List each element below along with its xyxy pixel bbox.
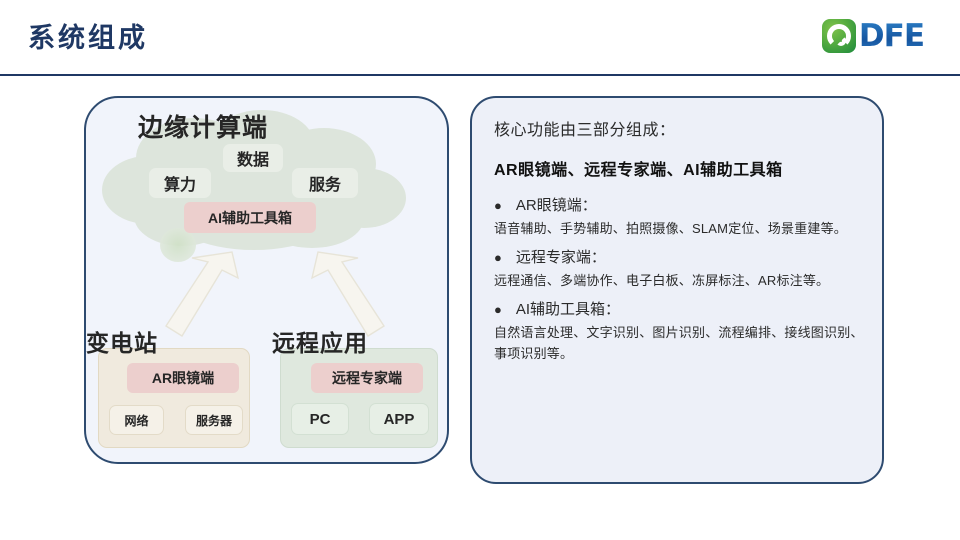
description-panel: 核心功能由三部分组成： AR眼镜端、远程专家端、AI辅助工具箱 ● AR眼镜端：…	[470, 96, 884, 484]
node-remote-expert[interactable]: 远程专家端	[311, 363, 423, 393]
node-app[interactable]: APP	[369, 403, 429, 435]
detail-ai-toolbox: 自然语言处理、文字识别、图片识别、流程编排、接线图识别、事项识别等。	[494, 322, 866, 364]
bullet-dot-icon: ●	[494, 251, 502, 264]
bullet-ar-glasses: ● AR眼镜端：	[494, 194, 866, 215]
bullet-ai-toolbox: ● AI辅助工具箱：	[494, 298, 866, 319]
bullet-label: AR眼镜端：	[516, 194, 597, 215]
cloud-tag-compute[interactable]: 算力	[149, 168, 211, 198]
description-components-summary: AR眼镜端、远程专家端、AI辅助工具箱	[494, 156, 866, 180]
bullet-dot-icon: ●	[494, 303, 502, 316]
detail-remote-expert: 远程通信、多端协作、电子白板、冻屏标注、AR标注等。	[494, 270, 866, 291]
slide-canvas: 系统组成 DFE 边	[0, 0, 960, 540]
bullet-label: AI辅助工具箱：	[516, 298, 620, 319]
group-heading-substation: 变电站	[86, 324, 158, 358]
group-box-remote-app: 远程专家端 PC APP	[280, 348, 438, 448]
page-title: 系统组成	[28, 16, 148, 55]
bullet-remote-expert: ● 远程专家端：	[494, 246, 866, 267]
node-ar-glasses[interactable]: AR眼镜端	[127, 363, 239, 393]
cloud-heading: 边缘计算端	[138, 108, 268, 144]
brand-logo: DFE	[822, 18, 924, 54]
bullet-dot-icon: ●	[494, 199, 502, 212]
edge-computing-cloud: 边缘计算端 数据 算力 服务 AI辅助工具箱	[86, 106, 451, 286]
cloud-tag-data[interactable]: 数据	[223, 144, 283, 172]
header-divider	[0, 74, 960, 76]
description-lead: 核心功能由三部分组成：	[494, 116, 866, 140]
logo-e-swirl-icon	[822, 19, 856, 53]
architecture-diagram-panel: 边缘计算端 数据 算力 服务 AI辅助工具箱 变电站 AR眼镜端 网络 服务器 …	[84, 96, 449, 464]
cloud-tag-service[interactable]: 服务	[292, 168, 358, 198]
node-network[interactable]: 网络	[109, 405, 164, 435]
node-pc[interactable]: PC	[291, 403, 349, 435]
cloud-tag-ai-toolbox[interactable]: AI辅助工具箱	[184, 202, 316, 233]
arrow-substation-to-cloud-icon	[164, 248, 240, 340]
group-box-substation: AR眼镜端 网络 服务器	[98, 348, 250, 448]
logo-wordmark: DFE	[859, 19, 924, 53]
bullet-label: 远程专家端：	[516, 246, 606, 267]
node-server[interactable]: 服务器	[185, 405, 243, 435]
description-body: 核心功能由三部分组成： AR眼镜端、远程专家端、AI辅助工具箱 ● AR眼镜端：…	[494, 116, 866, 371]
group-heading-remote-app: 远程应用	[272, 324, 368, 358]
detail-ar-glasses: 语音辅助、手势辅助、拍照摄像、SLAM定位、场景重建等。	[494, 218, 866, 239]
